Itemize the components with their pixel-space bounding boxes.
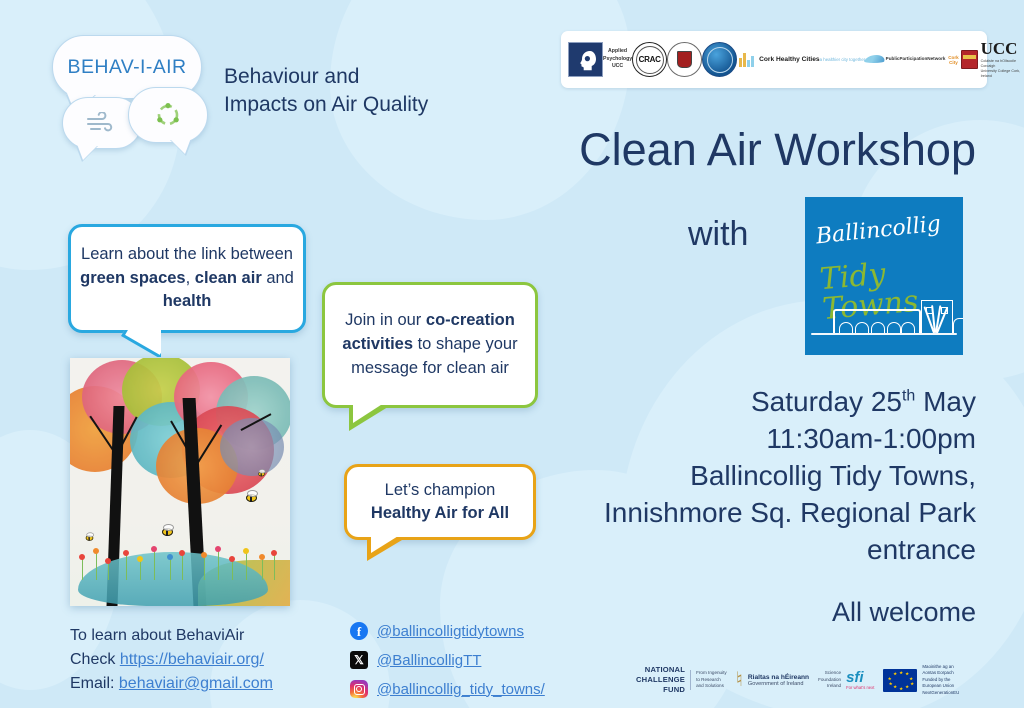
btt-line-1: Ballincollig xyxy=(813,199,942,250)
callout-seg-bold: clean air xyxy=(195,269,262,287)
poster-canvas: BEHAV-I-AIR xyxy=(0,0,1024,708)
bee-icon xyxy=(258,472,265,477)
event-time: 11:30am-1:00pm xyxy=(604,421,976,458)
behav-i-air-logo: BEHAV-I-AIR xyxy=(40,35,428,155)
contact-line-1: To learn about BehaviAir xyxy=(70,624,273,648)
ncf-sub-2: to Research xyxy=(696,677,727,684)
contact-email-row: Email: behaviair@gmail.com xyxy=(70,672,273,696)
canopy xyxy=(220,418,284,476)
ucc-logo: UCC Coláiste na hOllscoile Corcaigh Univ… xyxy=(961,40,1021,80)
instagram-handle[interactable]: @ballincollig_tidy_towns/ xyxy=(377,682,545,697)
event-venue-line-1: Ballincollig Tidy Towns, xyxy=(604,458,976,495)
ppn-line-1: Public xyxy=(886,56,900,62)
city-skyline-icon xyxy=(737,51,759,67)
event-date-prefix: Saturday 25 xyxy=(751,386,902,417)
applied-psychology-head-icon xyxy=(568,42,603,77)
speech-bubble-group: BEHAV-I-AIR xyxy=(40,35,202,155)
callout-text: Learn about the link between green space… xyxy=(71,243,303,313)
head-profile-icon xyxy=(574,48,598,72)
all-welcome-label: All welcome xyxy=(832,597,976,628)
brand-tagline: Behaviour and Impacts on Air Quality xyxy=(224,63,428,120)
callout-tail xyxy=(349,405,391,431)
bridge-icon xyxy=(833,309,921,333)
eu-line-5: NextGenerationEU xyxy=(922,690,959,696)
ncf-sub-3: and Solutions xyxy=(696,683,727,690)
callout-text: Let’s champion Healthy Air for All xyxy=(363,479,517,525)
tree-artwork-image xyxy=(70,358,290,606)
flower-stem xyxy=(126,554,127,580)
event-details: Saturday 25th May 11:30am-1:00pm Ballinc… xyxy=(604,384,976,569)
x-twitter-icon[interactable]: 𝕏 xyxy=(350,651,368,669)
flower-stem xyxy=(218,550,219,580)
ucc-sub-1: Coláiste na hOllscoile Corcaigh xyxy=(981,59,1022,69)
flower xyxy=(201,552,207,558)
gov-line-2: Government of Ireland xyxy=(748,681,809,687)
flower xyxy=(243,548,249,554)
with-label: with xyxy=(688,215,748,254)
shed-icon xyxy=(953,318,963,333)
flower-stem xyxy=(82,558,83,580)
page-title: Clean Air Workshop xyxy=(579,124,976,176)
callout-seg: Join in our xyxy=(345,311,426,329)
shield-shape xyxy=(677,51,692,68)
recycle-bubble xyxy=(128,87,208,143)
flower xyxy=(271,550,277,556)
social-links: f @ballincolligtidytowns 𝕏 @Ballincollig… xyxy=(350,622,545,708)
bee-icon xyxy=(246,494,257,502)
applied-psychology-ucc-logo: Applied Psychology UCC xyxy=(603,48,632,71)
bubble-tail xyxy=(169,138,191,154)
flower xyxy=(93,548,99,554)
crac-logo: CRAC xyxy=(632,42,667,77)
bee-icon xyxy=(162,528,173,536)
seal-ring xyxy=(707,47,733,73)
callout-seg-bold: Healthy Air for All xyxy=(371,504,509,522)
flower-stem xyxy=(170,558,171,580)
tagline-line-2: Impacts on Air Quality xyxy=(224,91,428,119)
ppn-line-3: Network xyxy=(927,56,945,62)
chc-sub: a healthier city together xyxy=(820,57,866,62)
flower xyxy=(123,550,129,556)
brand-name: BEHAV-I-AIR xyxy=(68,56,187,79)
website-link[interactable]: https://behaviair.org/ xyxy=(120,651,264,668)
flower xyxy=(137,556,143,562)
facebook-icon[interactable]: f xyxy=(350,622,368,640)
co-creation-callout: Join in our co-creation activities to sh… xyxy=(322,282,538,408)
sfi-tagline: For what’s next xyxy=(846,685,874,690)
flower-stem xyxy=(108,562,109,580)
ap-line-1: Applied xyxy=(603,48,632,56)
partner-logo-bar: Applied Psychology UCC CRAC Cork Healthy… xyxy=(561,31,987,88)
instagram-icon[interactable] xyxy=(350,680,368,698)
email-link[interactable]: behaviair@gmail.com xyxy=(119,675,273,692)
callout-tail xyxy=(367,537,407,561)
event-date: Saturday 25th May xyxy=(604,384,976,421)
public-participation-network-logo: Public Participation Network Cork City xyxy=(865,55,961,65)
callout-text: Join in our co-creation activities to sh… xyxy=(325,309,535,381)
chc-name: Cork Healthy Cities xyxy=(759,56,819,63)
callout-seg: and xyxy=(262,269,294,287)
flower-stem xyxy=(182,554,183,580)
flower xyxy=(259,554,265,560)
eu-line-4: European Union xyxy=(922,683,959,689)
ap-line-3: UCC xyxy=(603,63,632,71)
recycle-icon xyxy=(153,100,183,130)
ncf-line-1: NATIONAL xyxy=(636,665,685,675)
social-row-x: 𝕏 @BallincolligTT xyxy=(350,651,545,669)
crac-label: CRAC xyxy=(639,55,661,64)
callout-seg-bold: health xyxy=(163,292,212,310)
wind-icon xyxy=(85,112,119,134)
funder-logo-bar: NATIONAL CHALLENGE FUND From Ingenuity t… xyxy=(636,659,988,701)
flower xyxy=(151,546,157,552)
ncf-line-3: FUND xyxy=(636,685,685,695)
ucc-letters: UCC xyxy=(981,39,1018,58)
gov-line-1: Rialtas na hÉireann xyxy=(748,674,809,681)
eu-flag-icon: ★★ ★★ ★★ ★★ ★★ xyxy=(883,669,917,692)
ucc-crest-icon xyxy=(961,50,977,69)
ncf-sub-1: From Ingenuity xyxy=(696,670,727,677)
building-icon xyxy=(921,300,953,333)
harp-icon: ♮ xyxy=(736,670,743,690)
government-of-ireland-logo: ♮ Rialtas na hÉireann Government of Irel… xyxy=(736,670,809,690)
ppn-line-4: Cork City xyxy=(945,55,961,65)
ground-line xyxy=(811,333,957,335)
flower-stem xyxy=(262,558,263,580)
btt-rest: allincollig xyxy=(831,211,942,247)
ucc-sub-2: University College Cork, Ireland xyxy=(981,69,1022,79)
ap-line-2: Psychology xyxy=(603,56,632,64)
flower-stem xyxy=(232,560,233,580)
green-spaces-callout: Learn about the link between green space… xyxy=(68,224,306,333)
bubble-tail xyxy=(77,144,99,160)
crest-seal-logo xyxy=(667,42,702,77)
tagline-line-1: Behaviour and xyxy=(224,63,428,91)
x-handle[interactable]: @BallincolligTT xyxy=(377,653,481,668)
callout-seg: Let’s champion xyxy=(385,481,496,499)
facebook-handle[interactable]: @ballincolligtidytowns xyxy=(377,624,524,639)
flower-stem xyxy=(154,550,155,580)
event-date-suffix: May xyxy=(915,386,976,417)
callout-seg: Learn about the link xyxy=(81,245,231,263)
event-venue-line-3: entrance xyxy=(604,532,976,569)
callout-seg-bold: green spaces xyxy=(80,269,185,287)
flower xyxy=(179,550,185,556)
flower xyxy=(167,554,173,560)
flower-stem xyxy=(274,554,275,580)
email-label: Email: xyxy=(70,675,114,692)
bee-icon xyxy=(86,535,94,541)
flower xyxy=(79,554,85,560)
event-date-ordinal: th xyxy=(902,388,915,405)
flower-stem xyxy=(140,560,141,580)
social-row-facebook: f @ballincolligtidytowns xyxy=(350,622,545,640)
flower-stem xyxy=(246,552,247,580)
social-row-instagram: @ballincollig_tidy_towns/ xyxy=(350,680,545,698)
flower xyxy=(229,556,235,562)
funded-by-eu-logo: ★★ ★★ ★★ ★★ ★★ Maoinithe ag an Aontas Eo… xyxy=(883,664,959,696)
callout-tail xyxy=(121,330,161,357)
flower-stem xyxy=(96,552,97,580)
contact-block: To learn about BehaviAir Check https://b… xyxy=(70,624,273,696)
ballincollig-tidy-towns-logo: Ballincollig Tidy Towns xyxy=(805,197,963,355)
contact-website-row: Check https://behaviair.org/ xyxy=(70,648,273,672)
cork-healthy-cities-logo: Cork Healthy Cities a healthier city tog… xyxy=(737,51,865,68)
callout-seg: between xyxy=(231,245,293,263)
flower xyxy=(105,558,111,564)
check-label: Check xyxy=(70,651,115,668)
ppn-line-2: Participation xyxy=(899,56,927,62)
callout-seg: , xyxy=(186,269,195,287)
swoosh-icon xyxy=(864,55,887,63)
sfi-logo-mark: sfi xyxy=(846,670,874,685)
ncf-line-2: CHALLENGE xyxy=(636,675,685,685)
national-challenge-fund-logo: NATIONAL CHALLENGE FUND From Ingenuity t… xyxy=(636,665,727,696)
flower-stem xyxy=(204,556,205,580)
sfi-line-3: Ireland xyxy=(818,683,841,689)
blue-seal-logo xyxy=(702,42,737,77)
btt-skyline-illustration xyxy=(811,295,957,341)
healthy-air-callout: Let’s champion Healthy Air for All xyxy=(344,464,536,540)
flower xyxy=(215,546,221,552)
event-venue-line-2: Innishmore Sq. Regional Park xyxy=(604,495,976,532)
science-foundation-ireland-logo: Science Foundation Ireland sfi For what’… xyxy=(818,670,874,690)
